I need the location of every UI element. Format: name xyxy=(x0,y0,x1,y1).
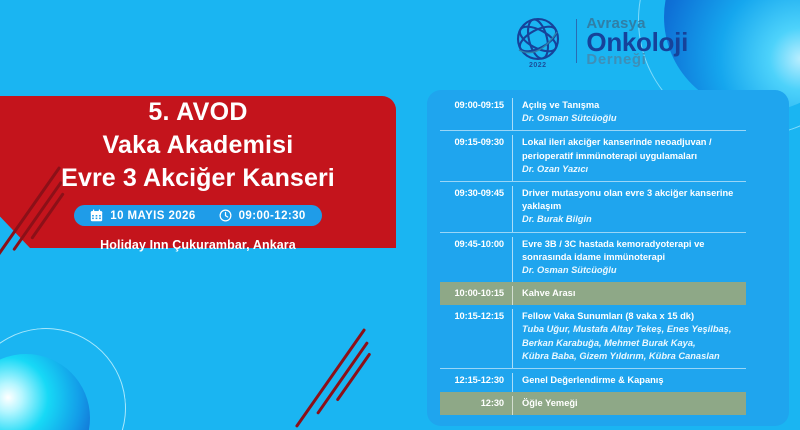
agenda-row-speaker: Dr. Ozan Yazıcı xyxy=(522,163,746,176)
event-title-line1: 5. AVOD xyxy=(0,98,396,127)
agenda-row-speaker: Kübra Baba, Gizem Yıldırım, Kübra Canasl… xyxy=(522,350,746,363)
agenda-row-body: Genel Değerlendirme & Kapanış xyxy=(512,373,746,392)
agenda-row: 09:00-09:15Açılış ve TanışmaDr. Osman Sü… xyxy=(440,98,746,130)
agenda-row: 09:45-10:00Evre 3B / 3C hastada kemorady… xyxy=(440,233,746,283)
clock-icon xyxy=(219,209,232,222)
event-title-line3: Evre 3 Akciğer Kanseri xyxy=(0,163,396,194)
agenda-row-time: 09:15-09:30 xyxy=(440,135,512,181)
agenda-row-speaker: Berkan Karabuğa, Mehmet Burak Kaya, xyxy=(522,337,746,350)
event-datetime-pill: 10 MAYIS 2026 09:00-12:30 xyxy=(74,205,321,226)
logo-year: 2022 xyxy=(529,62,547,69)
agenda-row-body: Öğle Yemeği xyxy=(512,396,746,415)
agenda-row-body: Açılış ve TanışmaDr. Osman Sütcüoğlu xyxy=(512,98,746,130)
agenda-row-time: 12:30 xyxy=(440,396,512,415)
agenda-row-topic: Driver mutasyonu olan evre 3 akciğer kan… xyxy=(522,187,746,213)
agenda-row-body: Kahve Arası xyxy=(512,286,746,305)
agenda-row-time: 09:45-10:00 xyxy=(440,237,512,283)
logo-wordmark: Avrasya Onkoloji Derneği xyxy=(586,16,688,67)
globe-knot-icon: 2022 xyxy=(509,12,567,70)
event-title-line2: Vaka Akademisi xyxy=(0,130,396,161)
agenda-row-topic: Genel Değerlendirme & Kapanış xyxy=(522,374,746,387)
agenda-row-time: 09:30-09:45 xyxy=(440,186,512,232)
agenda-row-topic: Açılış ve Tanışma xyxy=(522,99,746,112)
agenda-row-time: 10:00-10:15 xyxy=(440,286,512,305)
calendar-icon xyxy=(90,209,103,222)
agenda-row-topic: Fellow Vaka Sunumları (8 vaka x 15 dk) xyxy=(522,310,746,323)
agenda-row-time: 10:15-12:15 xyxy=(440,309,512,368)
agenda-row-body: Fellow Vaka Sunumları (8 vaka x 15 dk)Tu… xyxy=(512,309,746,368)
agenda-row: 10:00-10:15Kahve Arası xyxy=(440,282,746,305)
agenda-row: 12:15-12:30Genel Değerlendirme & Kapanış xyxy=(440,369,746,392)
agenda-row-topic: Kahve Arası xyxy=(522,287,746,300)
agenda-row: 09:15-09:30Lokal ileri akciğer kanserind… xyxy=(440,131,746,181)
event-venue: Holiday Inn Çukurambar, Ankara xyxy=(0,238,396,252)
agenda-row: 12:30Öğle Yemeği xyxy=(440,392,746,415)
agenda-row-body: Evre 3B / 3C hastada kemoradyoterapi ve … xyxy=(512,237,746,283)
agenda-row-topic: Lokal ileri akciğer kanserinde neoadjuva… xyxy=(522,136,746,162)
agenda-row-speaker: Dr. Burak Bilgin xyxy=(522,213,746,226)
agenda-list: 09:00-09:15Açılış ve TanışmaDr. Osman Sü… xyxy=(440,98,746,415)
agenda-row-topic: Öğle Yemeği xyxy=(522,397,746,410)
agenda-row-time: 12:15-12:30 xyxy=(440,373,512,392)
event-title-block: 5. AVOD Vaka Akademisi Evre 3 Akciğer Ka… xyxy=(0,98,396,252)
event-date: 10 MAYIS 2026 xyxy=(110,210,195,222)
association-logo: 2022 Avrasya Onkoloji Derneği xyxy=(509,12,688,70)
agenda-row: 09:30-09:45Driver mutasyonu olan evre 3 … xyxy=(440,182,746,232)
agenda-row: 10:15-12:15Fellow Vaka Sunumları (8 vaka… xyxy=(440,305,746,368)
agenda-row-speaker: Dr. Osman Sütcüoğlu xyxy=(522,264,746,277)
agenda-row-body: Lokal ileri akciğer kanserinde neoadjuva… xyxy=(512,135,746,181)
agenda-row-body: Driver mutasyonu olan evre 3 akciğer kan… xyxy=(512,186,746,232)
agenda-row-topic: Evre 3B / 3C hastada kemoradyoterapi ve … xyxy=(522,238,746,264)
agenda-row-speaker: Dr. Osman Sütcüoğlu xyxy=(522,112,746,125)
logo-divider xyxy=(576,19,578,63)
agenda-row-time: 09:00-09:15 xyxy=(440,98,512,130)
agenda-row-speaker: Tuba Uğur, Mustafa Altay Tekeş, Enes Yeş… xyxy=(522,323,746,336)
event-time-range: 09:00-12:30 xyxy=(239,210,306,222)
